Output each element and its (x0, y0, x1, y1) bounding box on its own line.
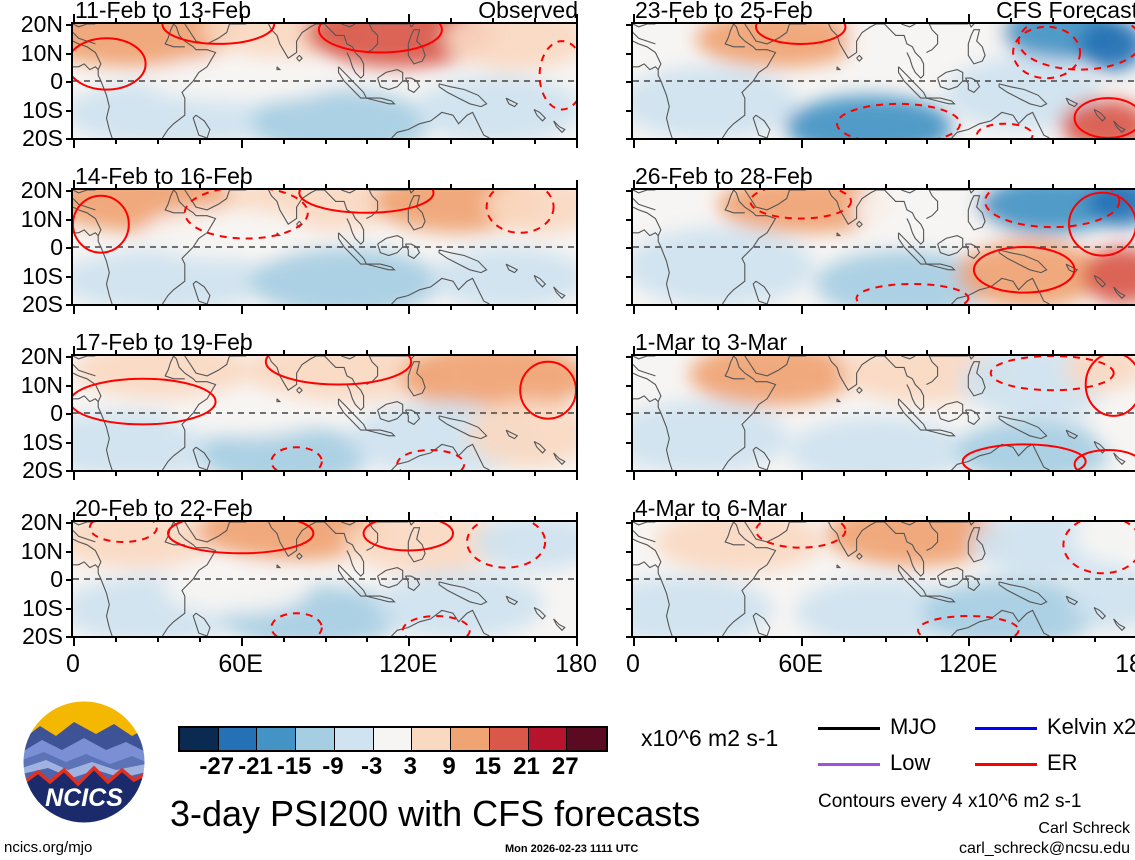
x-tick-mark-top (717, 350, 719, 355)
x-tick-mark-top (366, 184, 368, 189)
x-tick-mark (325, 637, 327, 642)
x-tick-mark-top (759, 18, 761, 23)
x-tick-mark-top (73, 14, 75, 23)
x-tick-mark (717, 305, 719, 310)
x-tick-mark-top (366, 18, 368, 23)
x-tick-mark (1052, 305, 1054, 310)
x-tick-mark-top (1010, 18, 1012, 23)
y-tick-mark (66, 53, 73, 55)
x-tick-mark-top (199, 184, 201, 189)
x-tick-mark (759, 471, 761, 476)
x-tick-mark (675, 637, 677, 642)
x-tick-mark-top (1010, 350, 1012, 355)
x-tick-mark-top (534, 516, 536, 521)
x-tick-mark (926, 139, 928, 144)
y-tick-mark (66, 190, 73, 192)
x-tick-mark-top (1094, 516, 1096, 521)
x-tick-mark (633, 471, 635, 480)
y-tick-mark (66, 470, 73, 472)
author-email: carl_schreck@ncsu.edu (830, 840, 1130, 857)
x-tick-mark-top (241, 346, 243, 355)
x-tick-mark (366, 139, 368, 144)
y-tick-mark (626, 190, 633, 192)
x-tick-mark (241, 637, 243, 646)
x-tick-mark-top (492, 350, 494, 355)
x-tick-mark (843, 637, 845, 642)
panel-title-fcst-2: 26-Feb to 28-Feb (635, 165, 813, 188)
x-tick-mark (717, 637, 719, 642)
x-tick-mark (366, 305, 368, 310)
x-tick-mark (492, 305, 494, 310)
x-tick-mark-top (199, 350, 201, 355)
x-tick-mark-top (283, 184, 285, 189)
y-tick-mark (66, 636, 73, 638)
x-tick-mark-top (450, 18, 452, 23)
x-tick-mark (633, 139, 635, 148)
x-tick-mark (675, 139, 677, 144)
x-tick-mark (843, 471, 845, 476)
y-tick-mark (66, 442, 73, 444)
colorbar-segment (219, 728, 258, 750)
x-tick-mark (73, 305, 75, 314)
y-tick-mark (626, 356, 633, 358)
colorbar-segment (296, 728, 335, 750)
colorbar-segment (412, 728, 451, 750)
x-tick-mark-top (241, 512, 243, 521)
x-tick-mark (492, 637, 494, 642)
y-tick-label: 0 (0, 70, 63, 93)
x-tick-mark (633, 305, 635, 314)
y-tick-mark (66, 551, 73, 553)
x-tick-mark (843, 139, 845, 144)
x-tick-mark-top (492, 516, 494, 521)
x-tick-mark-top (157, 350, 159, 355)
x-tick-mark-top (241, 180, 243, 189)
y-tick-label: 10S (0, 597, 63, 620)
x-tick-mark (534, 139, 536, 144)
colorbar-segment (490, 728, 529, 750)
y-tick-label: 20N (0, 179, 63, 202)
x-tick-mark (157, 637, 159, 642)
x-tick-mark (968, 637, 970, 646)
x-tick-mark-top (1010, 516, 1012, 521)
x-tick-mark (492, 139, 494, 144)
x-tick-mark (843, 305, 845, 310)
colorbar-segment (257, 728, 296, 750)
y-tick-mark (66, 24, 73, 26)
x-tick-mark (801, 305, 803, 314)
x-tick-mark (1010, 139, 1012, 144)
x-tick-mark (1010, 637, 1012, 642)
y-tick-label: 10N (0, 208, 63, 231)
x-tick-mark (115, 637, 117, 642)
ncics-logo-graphic: NCICS (22, 700, 146, 824)
x-tick-mark-top (408, 512, 410, 521)
y-tick-mark (626, 110, 633, 112)
y-tick-mark (66, 276, 73, 278)
panel-title-fcst-3: 1-Mar to 3-Mar (635, 331, 787, 354)
legend-line-mjo (818, 727, 880, 730)
x-tick-mark-top (115, 516, 117, 521)
x-tick-mark-top (843, 516, 845, 521)
panel-title-fcst-4: 4-Mar to 6-Mar (635, 497, 787, 520)
x-tick-mark-top (968, 14, 970, 23)
x-tick-mark (199, 471, 201, 476)
x-tick-mark (492, 471, 494, 476)
x-tick-mark (926, 305, 928, 310)
x-tick-mark-top (633, 14, 635, 23)
x-tick-mark-top (534, 18, 536, 23)
x-tick-mark (759, 305, 761, 310)
x-tick-mark (366, 471, 368, 476)
x-tick-mark (801, 637, 803, 646)
y-tick-label: 10S (0, 99, 63, 122)
x-tick-mark-top (926, 350, 928, 355)
x-tick-mark-top (408, 346, 410, 355)
x-tick-mark-top (408, 14, 410, 23)
x-tick-mark-top (492, 184, 494, 189)
x-tick-mark-top (283, 350, 285, 355)
column-header-right: CFS Forecast (631, 0, 1135, 22)
legend-line-low (818, 763, 880, 766)
y-tick-label: 20S (0, 459, 63, 482)
x-tick-mark-top (675, 350, 677, 355)
x-tick-mark-top (576, 346, 578, 355)
y-tick-mark (626, 636, 633, 638)
y-tick-mark (626, 138, 633, 140)
x-tick-mark (576, 305, 578, 314)
y-tick-label: 20S (0, 625, 63, 648)
y-tick-mark (66, 385, 73, 387)
x-tick-mark (1094, 139, 1096, 144)
x-tick-mark-top (801, 14, 803, 23)
x-tick-mark-top (325, 516, 327, 521)
x-tick-mark (199, 305, 201, 310)
x-tick-mark (157, 139, 159, 144)
x-tick-mark-top (968, 180, 970, 189)
colorbar-segment (335, 728, 374, 750)
y-tick-label: 10N (0, 42, 63, 65)
x-tick-mark-top (408, 180, 410, 189)
svg-text:NCICS: NCICS (45, 784, 123, 812)
x-tick-mark-top (1094, 184, 1096, 189)
x-tick-mark (534, 305, 536, 310)
x-tick-mark (325, 305, 327, 310)
x-tick-mark-top (325, 18, 327, 23)
x-tick-mark-top (968, 346, 970, 355)
y-tick-mark (66, 304, 73, 306)
x-tick-mark-top (633, 346, 635, 355)
x-tick-mark (408, 305, 410, 314)
y-tick-mark (626, 442, 633, 444)
x-tick-mark (73, 637, 75, 646)
x-tick-mark-top (885, 350, 887, 355)
y-tick-mark (66, 522, 73, 524)
y-tick-mark (626, 579, 633, 581)
y-tick-label: 20N (0, 13, 63, 36)
x-tick-mark-top (675, 184, 677, 189)
y-tick-mark (626, 219, 633, 221)
x-tick-mark-top (1052, 18, 1054, 23)
y-tick-label: 0 (0, 402, 63, 425)
y-tick-mark (626, 608, 633, 610)
x-tick-label: 0 (593, 652, 673, 677)
x-tick-mark-top (283, 516, 285, 521)
x-tick-mark (408, 139, 410, 148)
x-tick-mark-top (157, 184, 159, 189)
x-tick-mark-top (717, 18, 719, 23)
x-tick-mark-top (534, 350, 536, 355)
y-tick-mark (626, 53, 633, 55)
x-tick-mark-top (801, 512, 803, 521)
map-panel-fcst-2 (631, 188, 1135, 306)
x-tick-mark-top (759, 184, 761, 189)
map-panel-fcst-3 (631, 354, 1135, 472)
x-tick-mark-top (366, 350, 368, 355)
x-tick-mark-top (450, 516, 452, 521)
x-tick-mark-top (576, 180, 578, 189)
y-tick-mark (66, 81, 73, 83)
colorbar-segment (451, 728, 490, 750)
x-tick-mark-top (1094, 18, 1096, 23)
x-tick-mark (366, 637, 368, 642)
x-tick-mark-top (633, 180, 635, 189)
x-tick-mark (633, 637, 635, 646)
author-name: Carl Schreck (830, 820, 1130, 837)
x-tick-mark-top (843, 184, 845, 189)
legend-line-kelvin-x2 (975, 727, 1037, 730)
map-panel-obs-3 (71, 354, 578, 472)
x-tick-mark-top (492, 18, 494, 23)
x-tick-mark-top (843, 18, 845, 23)
legend-label: Kelvin x2 (1047, 716, 1135, 738)
x-tick-mark-top (843, 350, 845, 355)
x-tick-mark-top (115, 350, 117, 355)
y-tick-mark (66, 138, 73, 140)
x-tick-mark (885, 471, 887, 476)
x-tick-mark-top (968, 512, 970, 521)
x-tick-mark-top (576, 14, 578, 23)
x-tick-mark (325, 471, 327, 476)
y-tick-label: 10N (0, 374, 63, 397)
x-tick-mark (283, 139, 285, 144)
x-tick-mark-top (199, 18, 201, 23)
x-tick-mark (157, 305, 159, 310)
x-tick-mark (885, 637, 887, 642)
x-tick-mark-top (1052, 516, 1054, 521)
y-tick-label: 0 (0, 568, 63, 591)
x-tick-mark-top (801, 180, 803, 189)
x-tick-mark-top (926, 18, 928, 23)
x-tick-mark-top (450, 184, 452, 189)
x-tick-mark (450, 139, 452, 144)
x-tick-mark-top (157, 18, 159, 23)
x-tick-mark (885, 139, 887, 144)
legend-label: MJO (890, 716, 936, 738)
y-tick-mark (66, 413, 73, 415)
x-tick-mark-top (534, 184, 536, 189)
x-tick-mark (885, 305, 887, 310)
x-tick-mark (241, 305, 243, 314)
x-tick-label: 120E (928, 652, 1008, 677)
y-tick-mark (626, 81, 633, 83)
x-tick-mark-top (115, 184, 117, 189)
ncics-logo: NCICS (22, 700, 146, 824)
x-tick-mark (1052, 139, 1054, 144)
colorbar-segment (374, 728, 413, 750)
map-panel-obs-2 (71, 188, 578, 306)
x-tick-mark-top (1094, 350, 1096, 355)
y-tick-mark (66, 247, 73, 249)
main-title: 3-day PSI200 with CFS forecasts (170, 795, 700, 833)
colorbar-segment (567, 728, 606, 750)
x-tick-mark-top (73, 512, 75, 521)
x-tick-label: 180 (1096, 652, 1135, 677)
y-tick-label: 20S (0, 293, 63, 316)
site-url: ncics.org/mjo (4, 840, 92, 856)
x-tick-label: 120E (368, 652, 448, 677)
y-tick-mark (626, 551, 633, 553)
x-tick-mark (283, 637, 285, 642)
x-tick-mark (576, 637, 578, 646)
x-tick-mark (450, 637, 452, 642)
x-tick-mark-top (633, 512, 635, 521)
legend-label: Low (890, 752, 930, 774)
x-tick-mark (968, 305, 970, 314)
x-tick-mark (801, 139, 803, 148)
x-tick-mark (450, 305, 452, 310)
map-panel-fcst-4 (631, 520, 1135, 638)
x-tick-mark (1052, 471, 1054, 476)
x-tick-mark-top (926, 516, 928, 521)
x-tick-mark-top (241, 14, 243, 23)
x-tick-mark-top (199, 516, 201, 521)
colorbar-segment (529, 728, 568, 750)
x-tick-mark (801, 471, 803, 480)
x-tick-mark (576, 471, 578, 480)
x-tick-mark (199, 139, 201, 144)
x-tick-mark-top (325, 184, 327, 189)
x-tick-mark-top (73, 346, 75, 355)
x-tick-mark (1094, 305, 1096, 310)
colorbar (178, 726, 608, 752)
x-tick-mark (1094, 471, 1096, 476)
x-tick-mark-top (675, 18, 677, 23)
y-tick-mark (66, 356, 73, 358)
x-tick-mark (73, 139, 75, 148)
y-tick-mark (626, 385, 633, 387)
x-tick-label: 60E (761, 652, 841, 677)
x-tick-mark (1094, 637, 1096, 642)
x-tick-mark (926, 471, 928, 476)
map-panel-obs-1 (71, 22, 578, 140)
y-tick-mark (626, 276, 633, 278)
x-tick-mark (675, 471, 677, 476)
x-tick-mark (241, 471, 243, 480)
x-tick-mark (717, 139, 719, 144)
x-tick-mark (759, 637, 761, 642)
y-tick-mark (626, 470, 633, 472)
x-tick-mark (157, 471, 159, 476)
y-tick-mark (626, 413, 633, 415)
y-tick-label: 10N (0, 540, 63, 563)
x-tick-label: 0 (33, 652, 113, 677)
x-tick-mark-top (885, 18, 887, 23)
x-tick-mark (325, 139, 327, 144)
x-tick-mark (408, 637, 410, 646)
x-tick-mark-top (717, 516, 719, 521)
x-tick-mark-top (675, 516, 677, 521)
x-tick-mark-top (366, 516, 368, 521)
y-tick-label: 20N (0, 511, 63, 534)
map-panel-obs-4 (71, 520, 578, 638)
y-tick-mark (66, 110, 73, 112)
x-tick-mark (534, 637, 536, 642)
x-tick-mark (968, 139, 970, 148)
x-tick-mark-top (759, 516, 761, 521)
y-tick-label: 20N (0, 345, 63, 368)
x-tick-mark-top (283, 18, 285, 23)
contour-note: Contours every 4 x10^6 m2 s-1 (818, 792, 1081, 812)
x-tick-mark-top (801, 346, 803, 355)
x-tick-mark-top (1052, 184, 1054, 189)
x-tick-mark (534, 471, 536, 476)
x-tick-mark-top (885, 184, 887, 189)
y-tick-label: 10S (0, 265, 63, 288)
x-tick-mark (73, 471, 75, 480)
x-tick-mark-top (717, 184, 719, 189)
colorbar-unit-label: x10^6 m2 s-1 (641, 727, 778, 750)
x-tick-mark (1010, 471, 1012, 476)
x-tick-mark (115, 139, 117, 144)
legend-label: ER (1047, 752, 1078, 774)
panel-title-obs-2: 14-Feb to 16-Feb (75, 165, 253, 188)
y-tick-mark (66, 219, 73, 221)
x-tick-mark-top (1052, 350, 1054, 355)
x-tick-mark-top (576, 512, 578, 521)
x-tick-mark (408, 471, 410, 480)
x-tick-mark (199, 637, 201, 642)
x-tick-mark (675, 305, 677, 310)
x-tick-mark-top (759, 350, 761, 355)
x-tick-mark (968, 471, 970, 480)
map-panel-fcst-1 (631, 22, 1135, 140)
y-tick-mark (66, 579, 73, 581)
x-tick-mark (283, 305, 285, 310)
y-tick-mark (626, 304, 633, 306)
x-tick-mark-top (885, 516, 887, 521)
y-tick-label: 0 (0, 236, 63, 259)
x-tick-mark-top (450, 350, 452, 355)
x-tick-mark (717, 471, 719, 476)
panel-title-obs-3: 17-Feb to 19-Feb (75, 331, 253, 354)
x-tick-mark-top (157, 516, 159, 521)
x-tick-mark (450, 471, 452, 476)
panel-title-obs-4: 20-Feb to 22-Feb (75, 497, 253, 520)
x-tick-mark (1052, 637, 1054, 642)
y-tick-mark (626, 247, 633, 249)
x-tick-mark (241, 139, 243, 148)
y-tick-label: 10S (0, 431, 63, 454)
y-tick-label: 20S (0, 127, 63, 150)
x-tick-mark (115, 471, 117, 476)
x-tick-mark-top (73, 180, 75, 189)
x-tick-mark (759, 139, 761, 144)
x-tick-label: 60E (201, 652, 281, 677)
legend-line-er (975, 763, 1037, 766)
y-tick-mark (626, 522, 633, 524)
x-tick-mark-top (926, 184, 928, 189)
